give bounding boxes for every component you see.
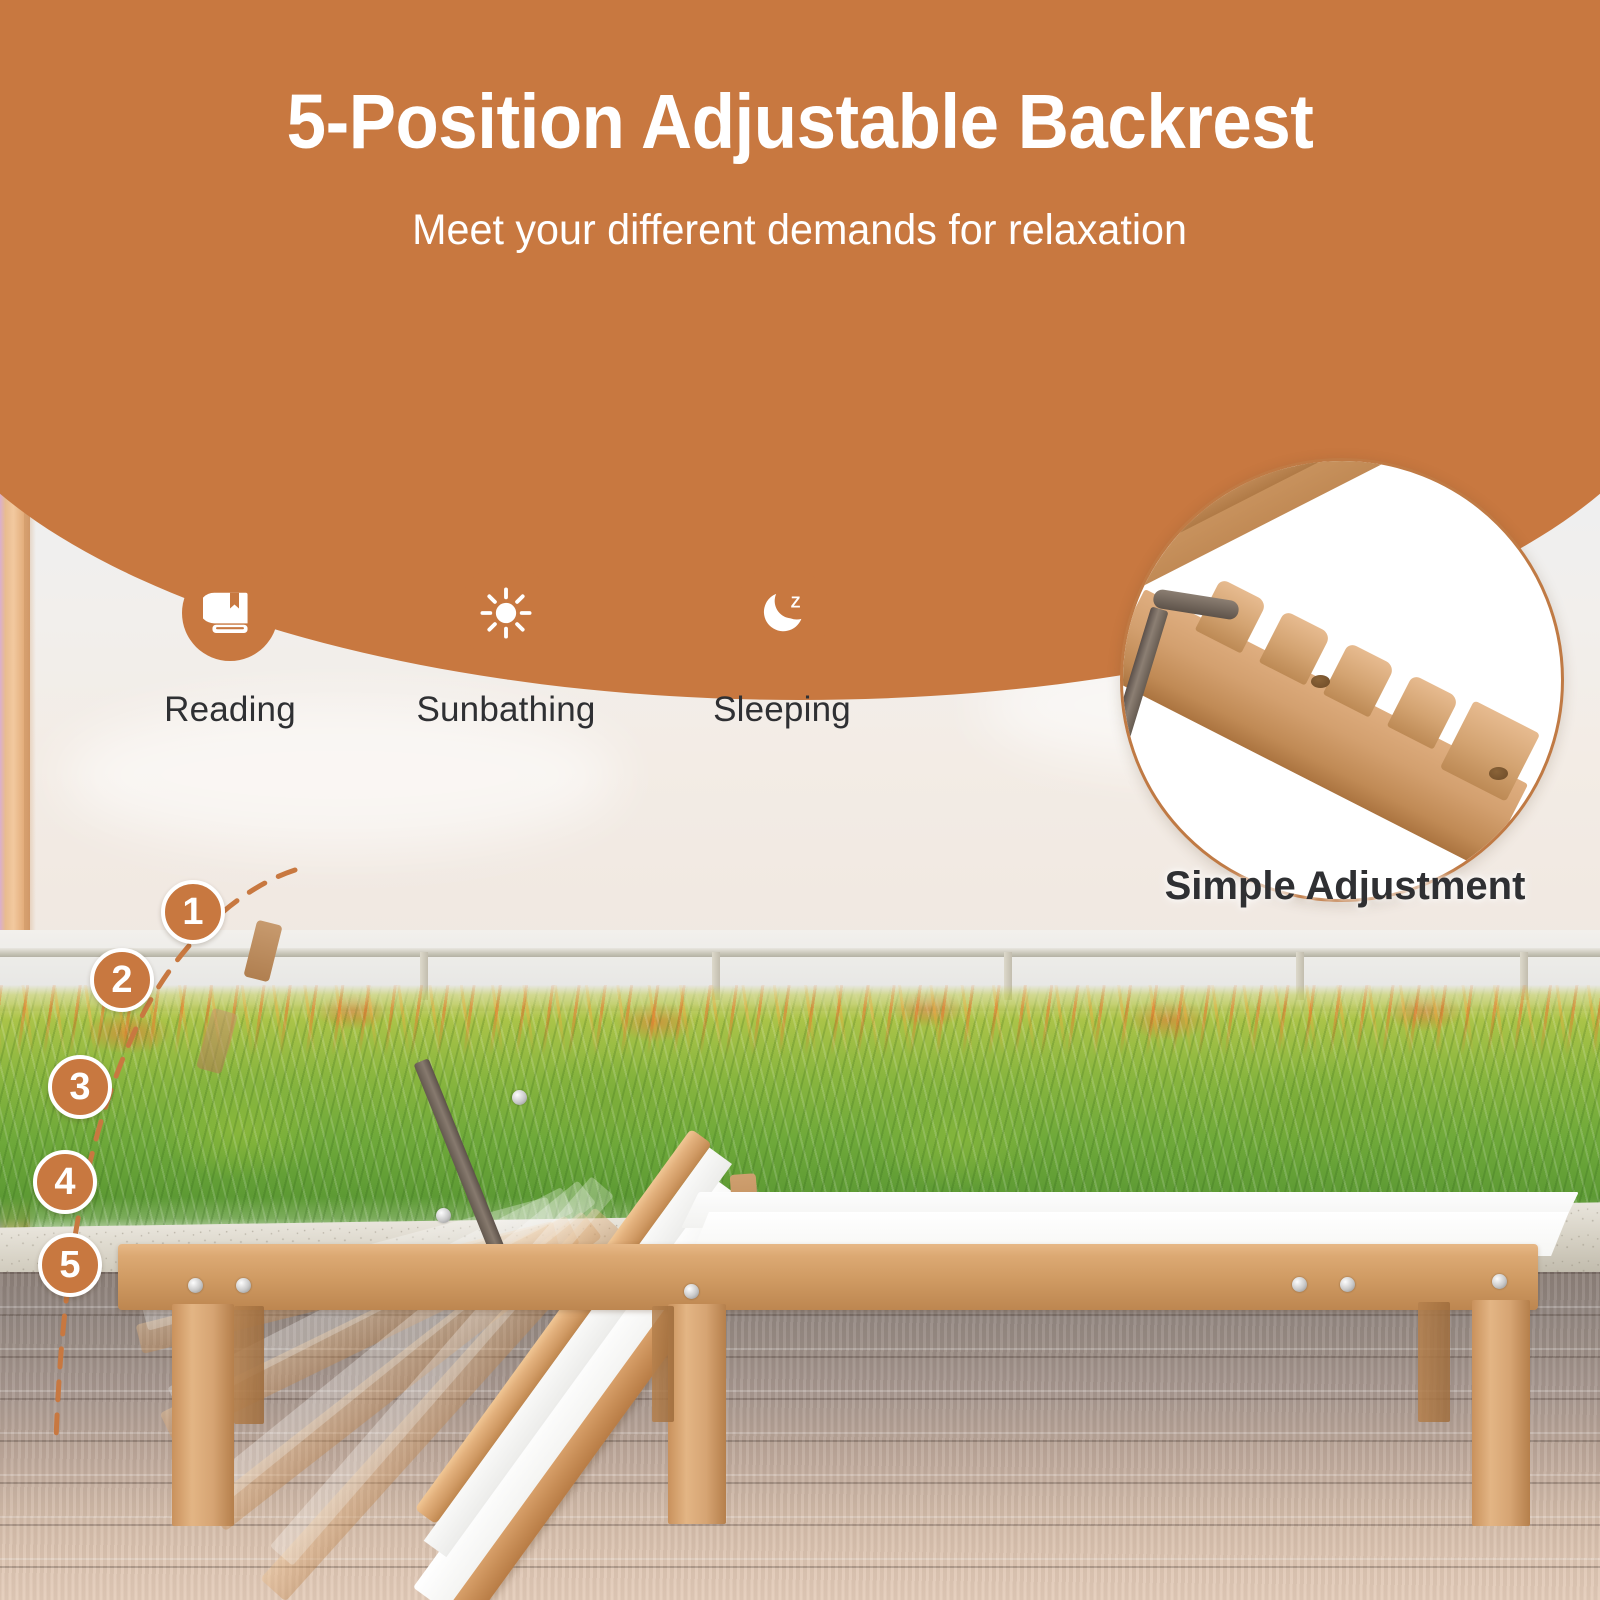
drill-hole: [1311, 675, 1330, 688]
screw: [1292, 1277, 1307, 1292]
position-number: 2: [111, 961, 132, 999]
position-badge-5[interactable]: 5: [38, 1233, 102, 1297]
leg-front-right: [1472, 1300, 1530, 1526]
simple-adjustment-callout: [1120, 458, 1564, 902]
feature-label: Reading: [164, 690, 296, 730]
feature-label: Sunbathing: [416, 690, 595, 730]
screw-backrest: [512, 1090, 527, 1105]
feature-label: Sleeping: [713, 690, 851, 730]
position-number: 4: [54, 1163, 75, 1201]
position-badge-1[interactable]: 1: [161, 880, 225, 944]
leg-mid: [668, 1304, 726, 1524]
marketing-infographic: 5-Position Adjustable Backrest Meet your…: [0, 0, 1600, 1600]
sun-icon: [458, 565, 554, 661]
book-icon: [182, 565, 278, 661]
screw-hinge: [684, 1284, 699, 1299]
leg-brace-right: [1418, 1302, 1450, 1422]
position-number: 5: [59, 1246, 80, 1284]
position-badge-3[interactable]: 3: [48, 1055, 112, 1119]
page-subtitle: Meet your different demands for relaxati…: [413, 209, 1188, 252]
page-title: 5-Position Adjustable Backrest: [287, 84, 1314, 161]
position-number: 1: [182, 893, 203, 931]
callout-label: Simple Adjustment: [1120, 864, 1570, 909]
feature-reading[interactable]: Reading: [92, 565, 368, 730]
drill-hole: [1489, 767, 1508, 780]
screw-rod: [436, 1208, 451, 1223]
position-badge-4[interactable]: 4: [33, 1150, 97, 1214]
position-badge-2[interactable]: 2: [90, 948, 154, 1012]
feature-sunbathing[interactable]: Sunbathing: [368, 565, 644, 730]
screw: [1492, 1274, 1507, 1289]
position-number: 3: [69, 1068, 90, 1106]
screw: [1340, 1277, 1355, 1292]
feature-sleeping[interactable]: Z Sleeping: [644, 565, 920, 730]
feature-list: Reading Sunbat: [92, 565, 920, 730]
leg-brace-mid: [652, 1306, 674, 1422]
moon-z-icon: Z: [734, 565, 830, 661]
svg-text:Z: Z: [791, 595, 801, 612]
